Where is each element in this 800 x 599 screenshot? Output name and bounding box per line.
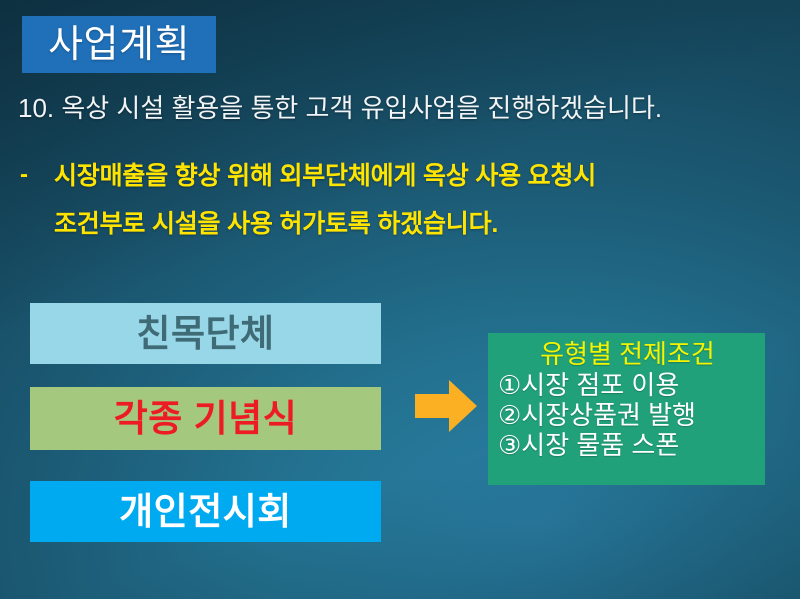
conditions-box: 유형별 전제조건 ①시장 점포 이용 ②시장상품권 발행 ③시장 물품 스폰 (488, 333, 765, 485)
conditions-item-1: ①시장 점포 이용 (498, 370, 757, 400)
category-label-3: 개인전시회 (119, 493, 292, 530)
slide-heading: 10. 옥상 시설 활용을 통한 고객 유입사업을 진행하겠습니다. (18, 94, 800, 124)
bullet-block: - 시장매출을 향상 위해 외부단체에게 옥상 사용 요청시 조건부로 시설을 … (16, 152, 596, 248)
bullet-line-2: 조건부로 시설을 사용 허가토록 하겠습니다. (54, 200, 596, 248)
category-box-chinmok: 친목단체 (30, 303, 381, 364)
category-box-ceremony: 각종 기념식 (30, 387, 381, 450)
category-label-2: 각종 기념식 (114, 400, 297, 437)
slide-title-text: 사업계획 (48, 26, 190, 64)
conditions-item-2: ②시장상품권 발행 (498, 400, 757, 430)
conditions-title: 유형별 전제조건 (498, 338, 757, 370)
category-label-1: 친목단체 (136, 315, 274, 352)
slide-title-chip: 사업계획 (22, 16, 216, 73)
presentation-slide: 사업계획 10. 옥상 시설 활용을 통한 고객 유입사업을 진행하겠습니다. … (0, 0, 800, 599)
conditions-item-3: ③시장 물품 스폰 (498, 430, 757, 460)
right-arrow-icon (415, 378, 477, 434)
bullet-dash-marker: - (16, 152, 54, 198)
bullet-line-1: 시장매출을 향상 위해 외부단체에게 옥상 사용 요청시 (54, 152, 596, 200)
category-box-exhibition: 개인전시회 (30, 481, 381, 542)
bullet-text-lines: 시장매출을 향상 위해 외부단체에게 옥상 사용 요청시 조건부로 시설을 사용… (54, 152, 596, 248)
